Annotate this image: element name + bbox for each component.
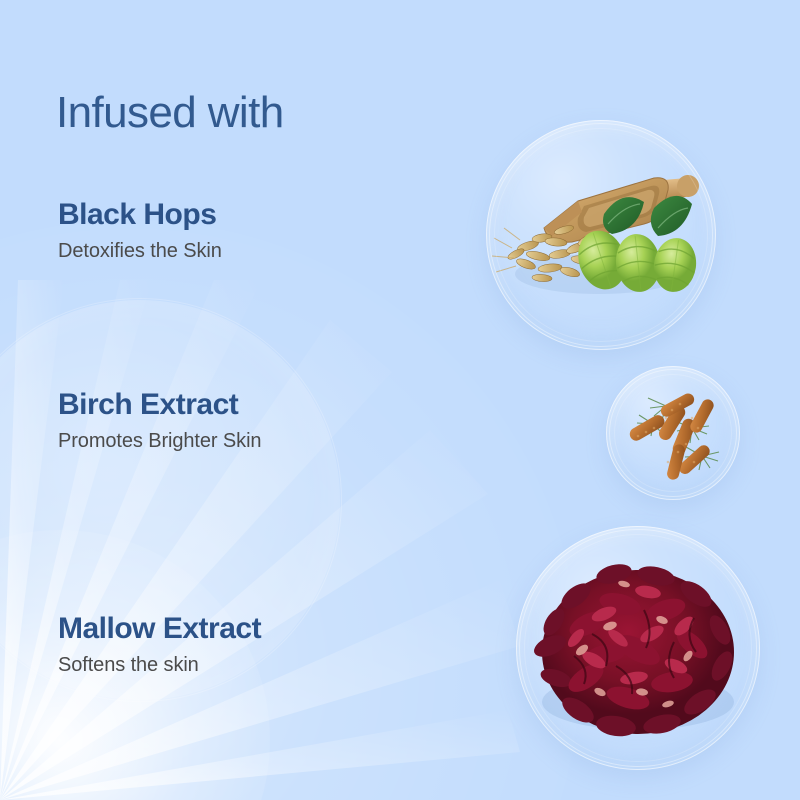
- ingredient-name: Mallow Extract: [58, 612, 261, 645]
- light-burst-wide-glow: [0, 220, 580, 800]
- ingredient-description: Detoxifies the Skin: [58, 240, 222, 262]
- ingredient-item-birch-extract: Birch Extract Promotes Brighter Skin: [58, 388, 261, 452]
- ingredient-name: Black Hops: [58, 198, 222, 231]
- birch-petri-dish-image: [606, 366, 740, 500]
- ingredient-item-black-hops: Black Hops Detoxifies the Skin: [58, 198, 222, 262]
- ingredient-description: Softens the skin: [58, 654, 261, 676]
- petri-dish-inner-rim: [494, 128, 708, 342]
- ingredient-item-mallow-extract: Mallow Extract Softens the skin: [58, 612, 261, 676]
- product-ingredients-panel: Infused with Black Hops Detoxifies the S…: [0, 0, 800, 800]
- light-rays-icon: [0, 280, 520, 800]
- petri-dish-inner-rim: [524, 534, 752, 762]
- mallow-petri-dish-image: [516, 526, 760, 770]
- petri-dish-inner-rim: [614, 374, 732, 492]
- hops-petri-dish-image: [486, 120, 716, 350]
- ingredient-description: Promotes Brighter Skin: [58, 430, 261, 452]
- page-title: Infused with: [56, 88, 284, 138]
- ingredient-name: Birch Extract: [58, 388, 261, 421]
